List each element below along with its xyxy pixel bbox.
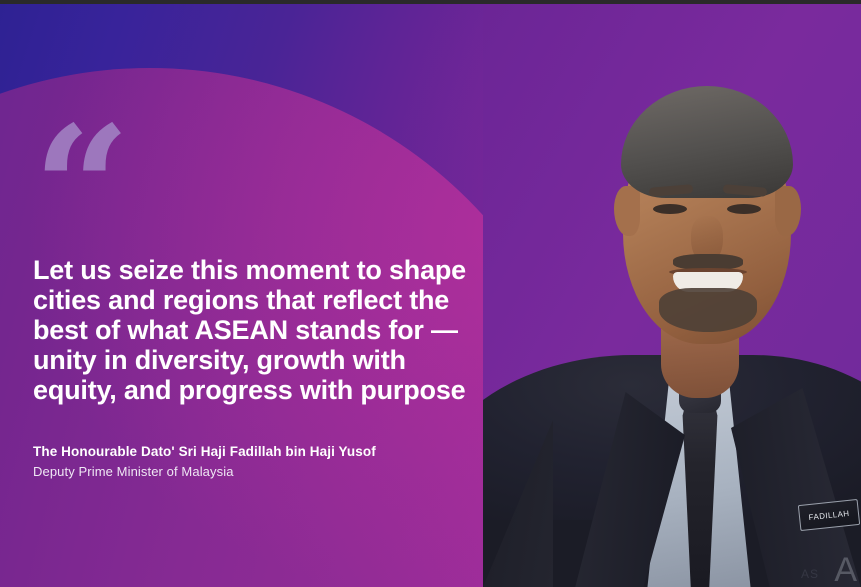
attribution-role: Deputy Prime Minister of Malaysia [33,463,473,480]
quote-text: Let us seize this moment to shape cities… [33,255,485,405]
top-bar [0,0,861,4]
watermark-ghost-text: AS [801,567,819,581]
portrait-photo: FADILLAH [483,0,861,587]
quote-content: “ Let us seize this moment to shape citi… [0,0,500,587]
attribution: The Honourable Dato' Sri Haji Fadillah b… [33,443,473,480]
quote-mark-icon: “ [33,104,125,274]
ear-left [614,186,640,236]
quote-slide: FADILLAH AS A “ Let us seize this moment… [0,0,861,587]
eye-right [727,204,761,214]
beard [659,288,757,332]
name-badge-text: FADILLAH [808,508,850,521]
eye-left [653,204,687,214]
attribution-name: The Honourable Dato' Sri Haji Fadillah b… [33,443,473,461]
